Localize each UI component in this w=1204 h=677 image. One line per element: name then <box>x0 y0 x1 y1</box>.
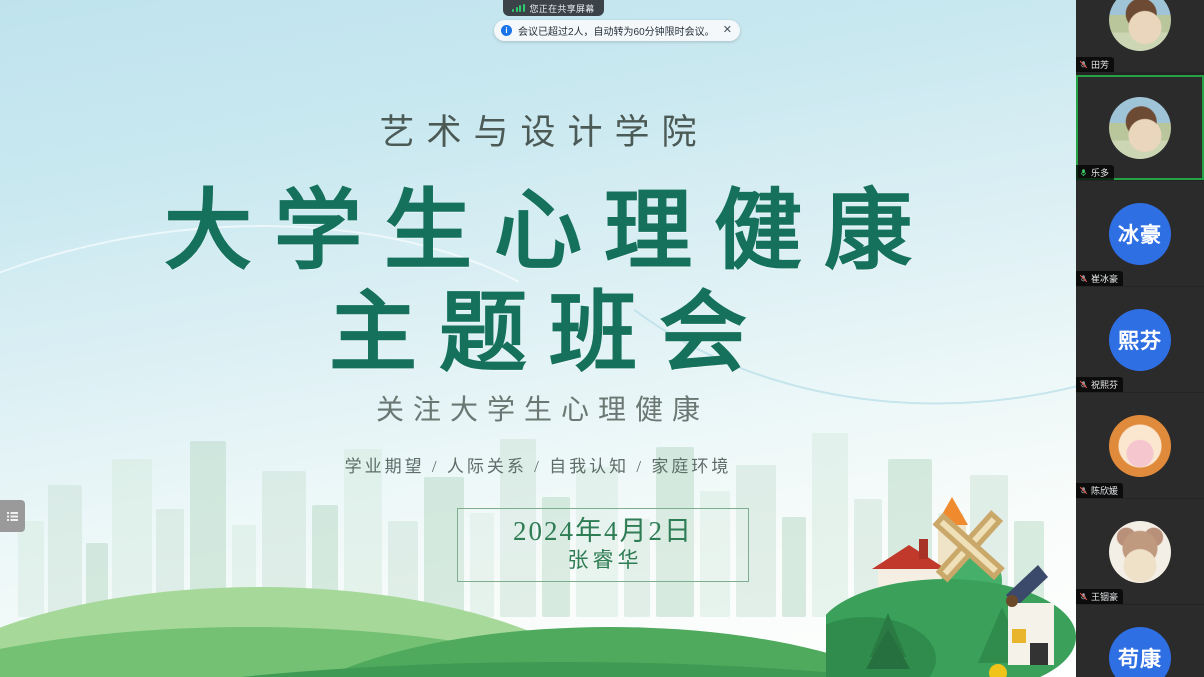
info-icon: i <box>501 25 512 36</box>
participant-name: 王铟豪 <box>1091 590 1118 603</box>
participant-nametag: 王铟豪 <box>1076 589 1123 604</box>
meeting-time-limit-notice: i 会议已超过2人，自动转为60分钟限时会议。 ✕ <box>494 20 740 41</box>
mic-muted-icon <box>1079 380 1088 389</box>
participant-name: 乐多 <box>1091 166 1109 179</box>
mic-muted-icon <box>1079 274 1088 283</box>
avatar <box>1109 521 1171 583</box>
shared-slide: 艺术与设计学院 大学生心理健康 主题班会 关注大学生心理健康 学业期望 / 人际… <box>0 0 1076 677</box>
participant-name: 祝熙芬 <box>1091 378 1118 391</box>
participant-tile[interactable]: 王铟豪 <box>1076 499 1204 604</box>
notice-text: 会议已超过2人，自动转为60分钟限时会议。 <box>518 23 715 38</box>
slide-subtitle: 关注大学生心理健康 <box>0 388 1076 428</box>
participant-nametag: 陈欣媛 <box>1076 483 1123 498</box>
mic-muted-icon <box>1079 60 1088 69</box>
avatar: 冰豪 <box>1109 203 1171 265</box>
share-indicator-label: 您正在共享屏幕 <box>530 2 595 15</box>
slide-keywords: 学业期望 / 人际关系 / 自我认知 / 家庭环境 <box>0 452 1076 477</box>
avatar: 熙芬 <box>1109 309 1171 371</box>
list-menu-icon <box>6 510 19 523</box>
participant-tile[interactable]: 陈欣媛 <box>1076 393 1204 498</box>
avatar <box>1109 97 1171 159</box>
slide-presenter: 张睿华 <box>564 547 643 574</box>
participant-tile[interactable]: 熙芬 祝熙芬 <box>1076 287 1204 392</box>
participant-tile[interactable]: 苟康 <box>1076 605 1204 677</box>
signal-bars-icon <box>512 4 525 12</box>
mic-muted-icon <box>1079 592 1088 601</box>
participant-rail: 正在讲话: 乐多 田芳 <box>1076 0 1204 677</box>
participant-nametag: 乐多 <box>1076 165 1114 180</box>
participant-name: 陈欣媛 <box>1091 484 1118 497</box>
participant-tile[interactable]: 乐多 <box>1076 75 1204 180</box>
participant-name: 崔冰豪 <box>1091 272 1118 285</box>
participant-nametag: 崔冰豪 <box>1076 271 1123 286</box>
close-icon[interactable]: ✕ <box>721 25 732 36</box>
mic-muted-icon <box>1079 486 1088 495</box>
participant-name: 田芳 <box>1091 58 1109 71</box>
left-panel-toggle[interactable] <box>0 500 25 532</box>
mic-active-icon <box>1079 168 1088 177</box>
avatar <box>1109 0 1171 51</box>
avatar: 苟康 <box>1109 627 1171 677</box>
slide-text-block: 艺术与设计学院 大学生心理健康 主题班会 关注大学生心理健康 学业期望 / 人际… <box>0 0 1076 677</box>
slide-department: 艺术与设计学院 <box>0 104 1076 155</box>
screen-share-indicator: 您正在共享屏幕 <box>503 0 604 16</box>
participant-tile[interactable]: 田芳 <box>1076 0 1204 72</box>
participant-tile[interactable]: 冰豪 崔冰豪 <box>1076 181 1204 286</box>
participant-nametag: 祝熙芬 <box>1076 377 1123 392</box>
slide-date: 2024年4月2日 <box>513 516 693 547</box>
meeting-screen-share-window: 艺术与设计学院 大学生心理健康 主题班会 关注大学生心理健康 学业期望 / 人际… <box>0 0 1204 677</box>
slide-title-line2: 主题班会 <box>0 262 1076 389</box>
avatar <box>1109 415 1171 477</box>
slide-date-box: 2024年4月2日 张睿华 <box>457 508 749 582</box>
participant-nametag: 田芳 <box>1076 57 1114 72</box>
